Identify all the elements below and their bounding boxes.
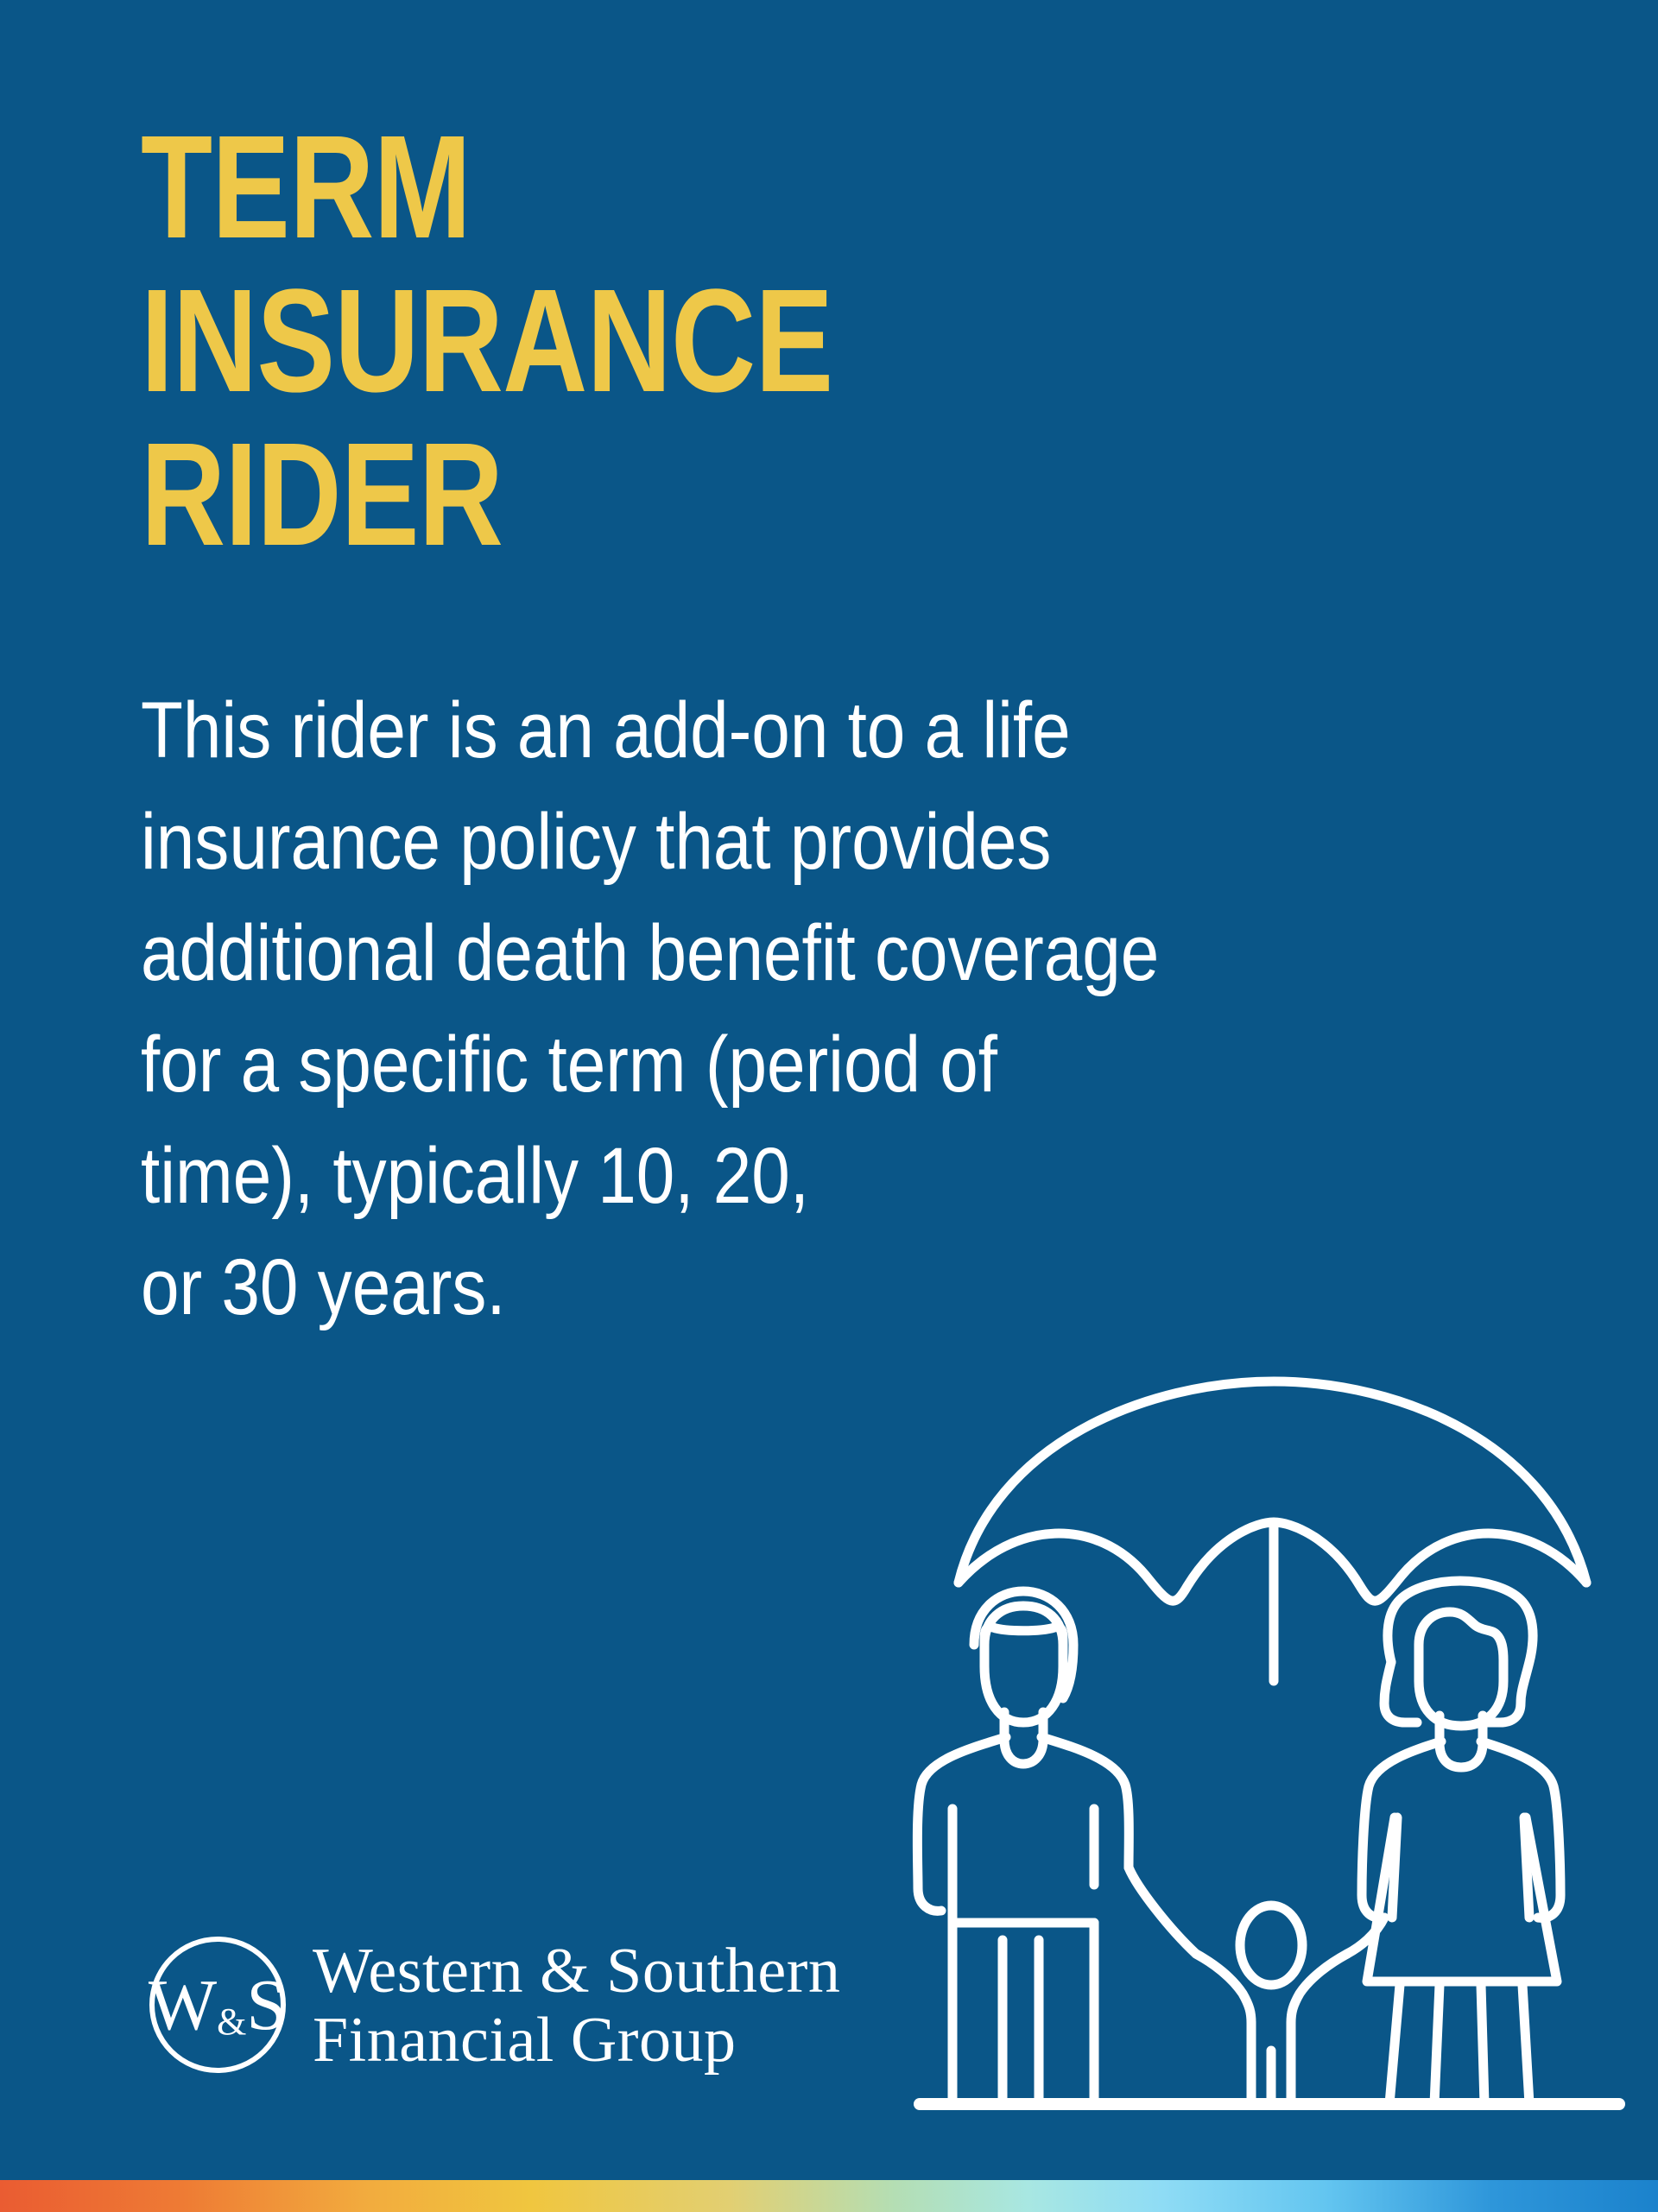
body-line-6: or 30 years. [141,1232,1087,1343]
bottom-gradient-bar [0,2180,1658,2212]
female-leg-inner-right [1481,1985,1484,2104]
ws-circle-icon: W&S [145,1932,290,2077]
brand-name-line-2: Financial Group [313,2008,840,2072]
male-right-shoulder [1041,1737,1129,1868]
male-face [984,1627,1063,1723]
title-line-3: RIDER [141,418,970,572]
umbrella-family-svg [911,1360,1628,2111]
female-leg-inner-left [1434,1985,1440,2104]
logo-ws-text: W&S [149,1965,287,2045]
body-line-3: additional death benefit coverage [141,898,1087,1009]
body-line-5: time), typically 10, 20, [141,1121,1087,1232]
body-line-1: This rider is an add-on to a life [141,675,1087,787]
adult-male-figure [917,1591,1196,2104]
female-face [1419,1612,1503,1726]
brand-logo: W&S Western & Southern Financial Group [145,1932,840,2077]
page-title: TERM INSURANCE RIDER [141,111,1177,572]
poster-canvas: TERM INSURANCE RIDER This rider is an ad… [0,0,1658,2212]
title-line-2: INSURANCE [141,264,970,418]
male-reaching-arm [1129,1868,1196,1954]
male-left-shoulder [917,1737,1006,1911]
brand-name-line-1: Western & Southern [313,1939,840,2003]
female-left-shoulder [1362,1741,1441,1918]
child-head [1240,1905,1302,1985]
brand-name: Western & Southern Financial Group [313,1939,840,2072]
body-line-4: for a specific term (period of [141,1009,1087,1121]
female-hair-left [1384,1662,1417,1722]
adult-female-figure [1347,1581,1560,2104]
umbrella-family-illustration [911,1360,1628,2111]
body-line-2: insurance policy that provides [141,787,1087,898]
title-line-1: TERM [141,111,970,264]
female-hair-right [1388,1581,1533,1722]
body-paragraph: This rider is an add-on to a life insura… [141,675,1229,1343]
female-leg-outer-left [1389,1985,1400,2104]
child-figure [1196,1905,1347,2104]
female-leg-outer-right [1522,1985,1529,2104]
